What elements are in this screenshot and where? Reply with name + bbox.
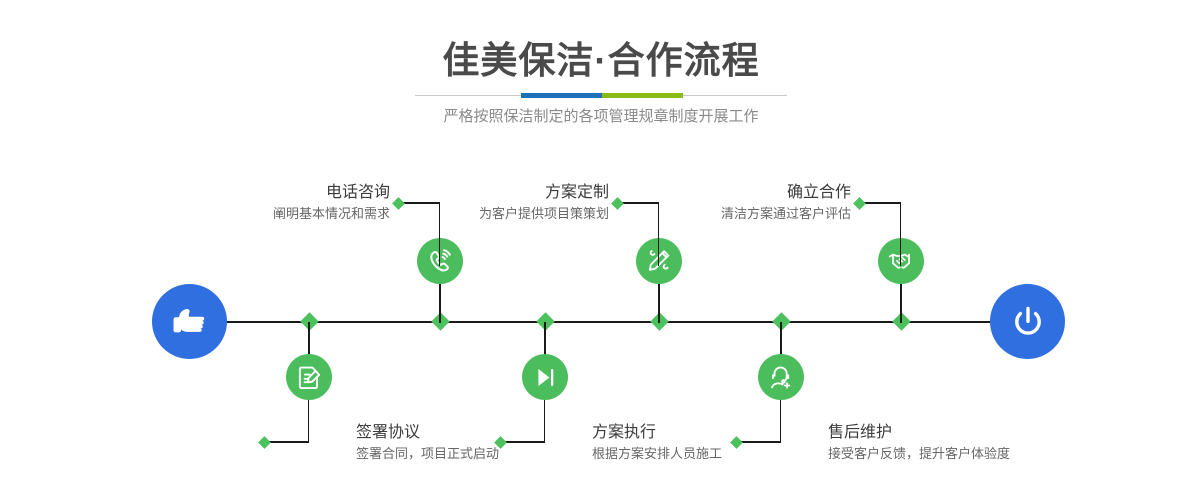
step-title-3: 方案定制 <box>359 182 609 204</box>
step-desc-6: 接受客户反馈，提升客户体验度 <box>828 444 1108 464</box>
page-header: 佳美保洁·合作流程 严格按照保洁制定的各项管理规章制度开展工作 <box>0 0 1202 150</box>
step-icon-bubble-4[interactable] <box>522 354 568 400</box>
timeline-end-node[interactable] <box>990 284 1065 359</box>
connector-stem-4 <box>544 322 546 354</box>
step-icon-bubble-6[interactable] <box>758 354 804 400</box>
step-title-2: 签署协议 <box>356 422 626 444</box>
step-label-6: 售后维护 接受客户反馈，提升客户体验度 <box>828 422 1108 464</box>
step-label-5: 确立合作 清洁方案通过客户评估 <box>601 182 851 224</box>
flowchart-page: 佳美保洁·合作流程 严格按照保洁制定的各项管理规章制度开展工作 <box>0 0 1202 502</box>
label-leader-vertical-6 <box>780 400 781 442</box>
step-label-4: 方案执行 根据方案安排人员施工 <box>592 422 862 464</box>
process-timeline: 电话咨询 阐明基本情况和需求 <box>0 150 1202 502</box>
handshake-icon <box>887 247 915 275</box>
step-icon-bubble-2[interactable] <box>286 354 332 400</box>
step-title-6: 售后维护 <box>828 422 1108 444</box>
step-desc-5: 清洁方案通过客户评估 <box>601 204 851 224</box>
label-leader-horizontal-4 <box>501 441 545 443</box>
step-desc-1: 阐明基本情况和需求 <box>140 204 390 224</box>
label-leader-vertical-5 <box>900 202 901 266</box>
connector-stem-6 <box>780 322 782 354</box>
step-title-4: 方案执行 <box>592 422 862 444</box>
label-leader-horizontal-6 <box>737 441 781 443</box>
connector-stem-2 <box>308 322 310 354</box>
step-icon-bubble-1[interactable] <box>417 238 463 284</box>
step-icon-bubble-3[interactable] <box>636 238 682 284</box>
step-desc-4: 根据方案安排人员施工 <box>592 444 862 464</box>
divider-green-segment <box>602 93 683 98</box>
timeline-start-node[interactable] <box>152 284 227 359</box>
label-leader-dot-5 <box>853 197 866 210</box>
label-leader-horizontal-2 <box>265 441 309 443</box>
page-title: 佳美保洁·合作流程 <box>0 38 1202 84</box>
label-leader-dot-2 <box>258 436 271 449</box>
step-desc-2: 签署合同，项目正式启动 <box>356 444 626 464</box>
step-label-1: 电话咨询 阐明基本情况和需求 <box>140 182 390 224</box>
step-icon-bubble-5[interactable] <box>878 238 924 284</box>
step-title-5: 确立合作 <box>601 182 851 204</box>
title-divider <box>415 93 787 98</box>
play-execute-icon <box>532 364 559 391</box>
step-title-1: 电话咨询 <box>140 182 390 204</box>
label-leader-vertical-4 <box>544 400 545 442</box>
label-leader-vertical-2 <box>308 400 309 442</box>
pencil-design-icon <box>645 247 673 275</box>
phone-call-icon <box>426 247 454 275</box>
step-label-3: 方案定制 为客户提供项目策策划 <box>359 182 609 224</box>
headset-support-icon <box>768 364 795 391</box>
thumbs-up-icon <box>169 301 211 343</box>
power-icon <box>1007 301 1049 343</box>
step-desc-3: 为客户提供项目策策划 <box>359 204 609 224</box>
document-sign-icon <box>296 364 323 391</box>
page-subtitle: 严格按照保洁制定的各项管理规章制度开展工作 <box>0 105 1202 129</box>
step-label-2: 签署协议 签署合同，项目正式启动 <box>356 422 626 464</box>
divider-blue-segment <box>521 93 602 98</box>
